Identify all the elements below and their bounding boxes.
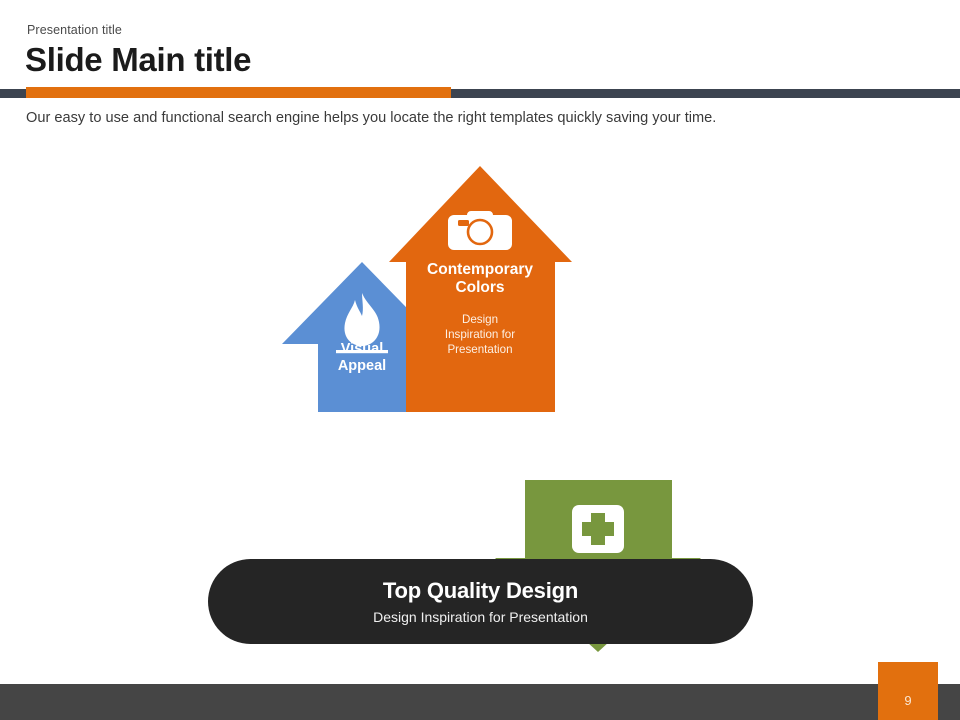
slide-body-text: Our easy to use and functional search en… xyxy=(26,108,796,128)
center-banner-subtitle: Design Inspiration for Presentation xyxy=(373,609,588,625)
arrow-contemporary-colors[interactable] xyxy=(389,166,572,412)
camera-icon xyxy=(448,211,512,250)
diagram-stage: Contemporary Colors Design Inspiration f… xyxy=(0,150,960,670)
slide-main-title: Slide Main title xyxy=(25,41,251,79)
page-number: 9 xyxy=(904,693,911,720)
slide-canvas: Presentation title Slide Main title Our … xyxy=(0,0,960,720)
presentation-title-eyebrow: Presentation title xyxy=(27,23,122,37)
header-divider-accent xyxy=(26,87,451,98)
footer-bar xyxy=(0,684,960,720)
center-banner-pill[interactable]: Top Quality Design Design Inspiration fo… xyxy=(208,559,753,644)
center-banner-title: Top Quality Design xyxy=(383,578,578,604)
page-number-badge: 9 xyxy=(878,662,938,720)
plus-cross-icon xyxy=(572,505,624,553)
